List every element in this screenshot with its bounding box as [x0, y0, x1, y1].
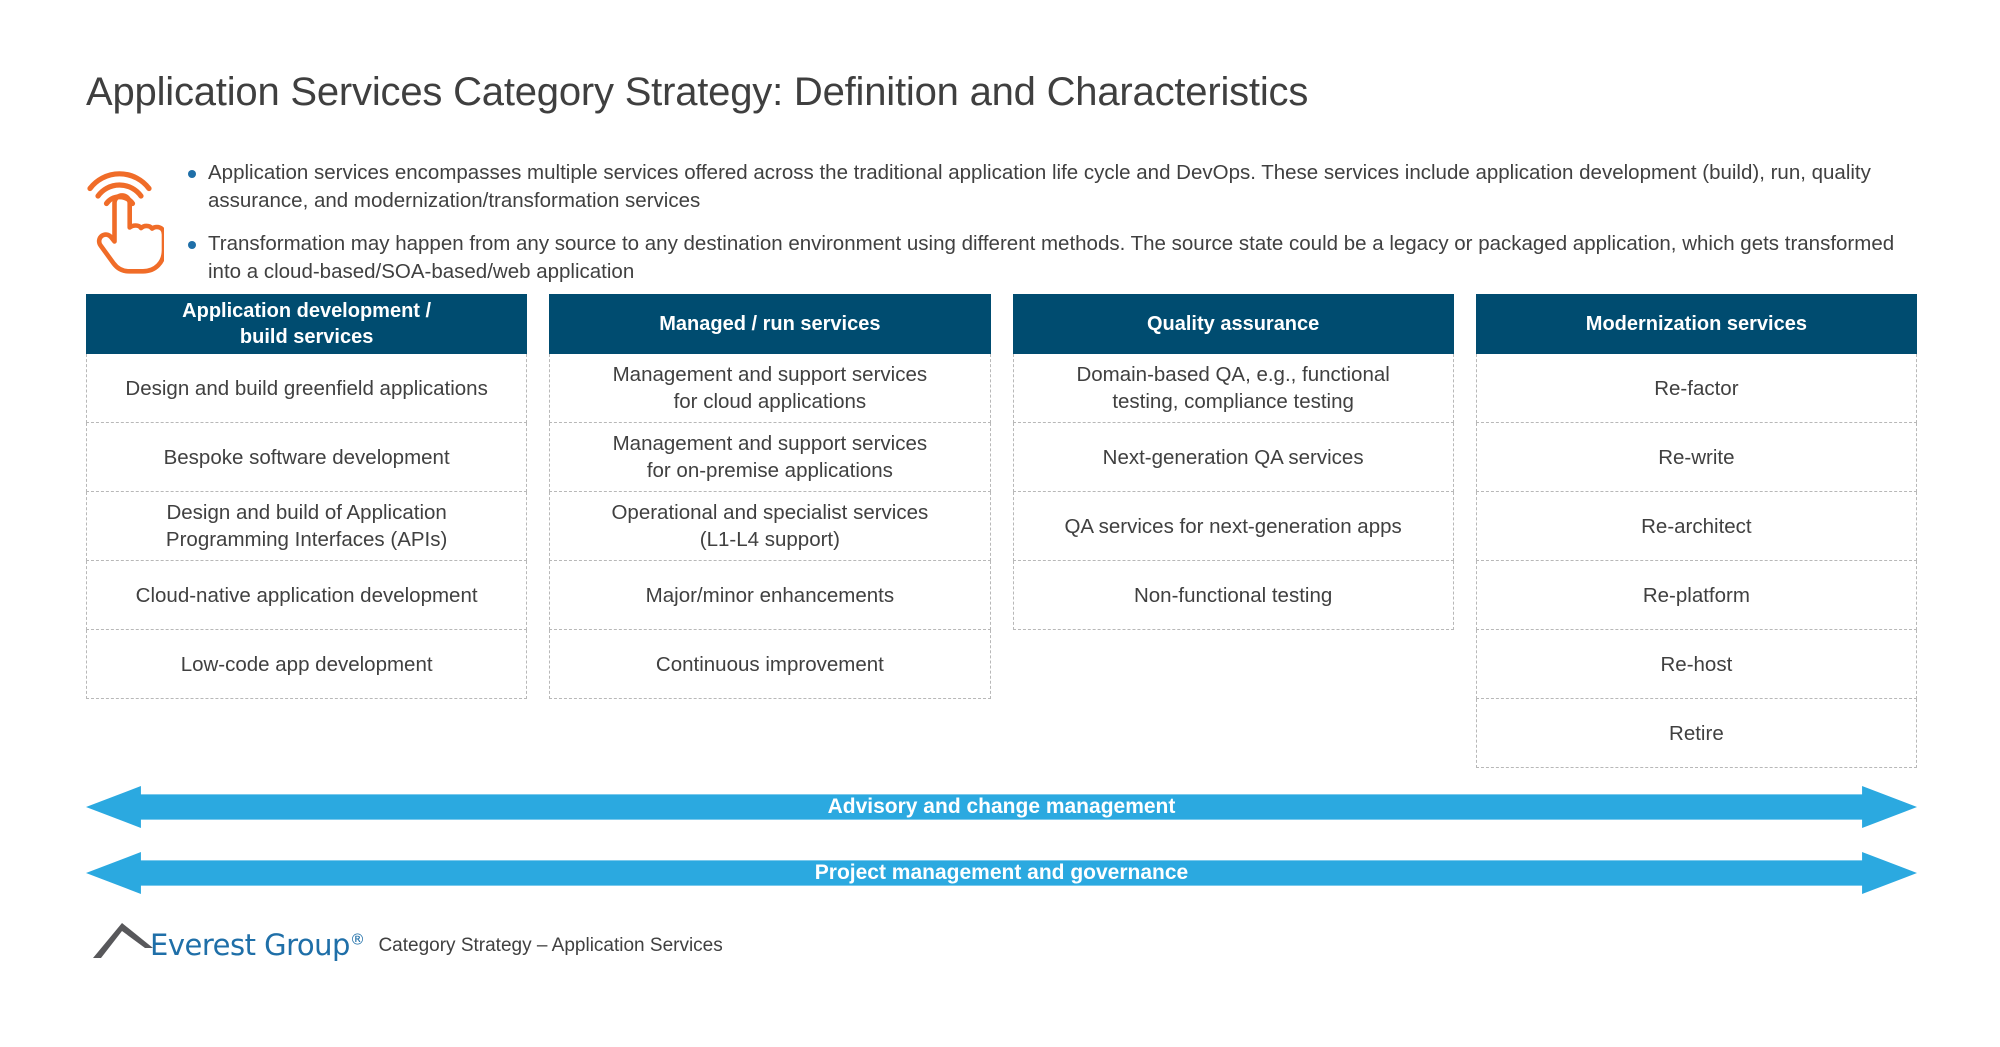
cell-line1: Re-platform: [1643, 582, 1750, 609]
column-header: Managed / run services: [549, 294, 990, 354]
cell-line1: Design and build of Application: [166, 499, 446, 526]
table-row[interactable]: Re-write: [1476, 423, 1917, 492]
column-modernization-services: Modernization services Re-factor Re-writ…: [1476, 294, 1917, 768]
registered-mark: ®: [350, 930, 365, 948]
bullet-text: Transformation may happen from any sourc…: [208, 232, 1894, 283]
bullet-text: Application services encompasses multipl…: [208, 161, 1871, 212]
category-columns: Application development / build services…: [86, 294, 1917, 768]
table-row[interactable]: Major/minor enhancements: [549, 561, 990, 630]
cell-line1: Next-generation QA services: [1103, 444, 1364, 471]
cell-line1: Non-functional testing: [1134, 582, 1332, 609]
cell-line1: Continuous improvement: [656, 651, 884, 678]
cell-line1: Re-factor: [1654, 375, 1738, 402]
cell-line1: Retire: [1669, 720, 1724, 747]
touch-gesture-icon: [86, 159, 164, 277]
column-header: Application development / build services: [86, 294, 527, 354]
column-header: Quality assurance: [1013, 294, 1454, 354]
footer-note: Category Strategy – Application Services: [378, 935, 722, 960]
cell-line2: for cloud applications: [674, 388, 867, 415]
footer: Everest Group® Category Strategy – Appli…: [92, 920, 723, 960]
table-row[interactable]: Management and support services for clou…: [549, 354, 990, 423]
table-row[interactable]: Non-functional testing: [1013, 561, 1454, 630]
column-quality-assurance: Quality assurance Domain-based QA, e.g.,…: [1013, 294, 1454, 768]
column-header: Modernization services: [1476, 294, 1917, 354]
table-row[interactable]: QA services for next-generation apps: [1013, 492, 1454, 561]
column-header-line1: Modernization services: [1586, 311, 1807, 337]
column-header-line2: build services: [240, 324, 373, 350]
everest-group-logo: Everest Group®: [92, 920, 364, 960]
cell-line2: Programming Interfaces (APIs): [166, 526, 447, 553]
intro-bullet-list: Application services encompasses multipl…: [186, 155, 1916, 286]
table-row[interactable]: Design and build of Application Programm…: [86, 492, 527, 561]
table-row[interactable]: Retire: [1476, 699, 1917, 768]
table-row[interactable]: Low-code app development: [86, 630, 527, 699]
cell-line1: Re-architect: [1641, 513, 1752, 540]
cell-line1: Cloud-native application development: [136, 582, 478, 609]
table-row[interactable]: Continuous improvement: [549, 630, 990, 699]
table-row[interactable]: Bespoke software development: [86, 423, 527, 492]
cell-line2: (L1-L4 support): [700, 526, 840, 553]
table-row[interactable]: Next-generation QA services: [1013, 423, 1454, 492]
column-managed-run-services: Managed / run services Management and su…: [549, 294, 990, 768]
table-row[interactable]: Re-platform: [1476, 561, 1917, 630]
slide-root: Application Services Category Strategy: …: [0, 0, 2000, 1047]
bullet-dot-icon: [188, 241, 196, 249]
table-row[interactable]: Design and build greenfield applications: [86, 354, 527, 423]
table-row[interactable]: Domain-based QA, e.g., functional testin…: [1013, 354, 1454, 423]
intro-section: Application services encompasses multipl…: [86, 155, 1916, 286]
banner-advisory-change-management: Advisory and change management: [86, 786, 1917, 828]
column-application-development: Application development / build services…: [86, 294, 527, 768]
cell-line1: Re-host: [1660, 651, 1732, 678]
cell-line1: Major/minor enhancements: [646, 582, 894, 609]
table-row[interactable]: Cloud-native application development: [86, 561, 527, 630]
banner-project-management-governance: Project management and governance: [86, 852, 1917, 894]
cell-line1: QA services for next-generation apps: [1064, 513, 1401, 540]
table-row[interactable]: Re-host: [1476, 630, 1917, 699]
column-header-line1: Managed / run services: [659, 311, 880, 337]
logo-text: Everest Group®: [150, 930, 364, 960]
cell-line1: Re-write: [1658, 444, 1734, 471]
cell-line1: Management and support services: [613, 361, 928, 388]
list-item: Transformation may happen from any sourc…: [186, 230, 1916, 286]
table-row[interactable]: Operational and specialist services (L1-…: [549, 492, 990, 561]
cell-line1: Low-code app development: [181, 651, 433, 678]
mountain-peak-icon: [92, 920, 154, 960]
column-header-line1: Quality assurance: [1147, 311, 1319, 337]
cell-line2: for on-premise applications: [647, 457, 893, 484]
banner-label: Project management and governance: [86, 852, 1917, 894]
cell-line1: Domain-based QA, e.g., functional: [1076, 361, 1389, 388]
logo-name: Everest Group: [150, 928, 350, 962]
cell-line1: Design and build greenfield applications: [125, 375, 487, 402]
cell-line1: Bespoke software development: [164, 444, 450, 471]
column-header-line1: Application development /: [182, 298, 431, 324]
banner-label: Advisory and change management: [86, 786, 1917, 828]
cell-line1: Management and support services: [613, 430, 928, 457]
cell-line1: Operational and specialist services: [611, 499, 928, 526]
table-row[interactable]: Re-architect: [1476, 492, 1917, 561]
cell-line2: testing, compliance testing: [1112, 388, 1354, 415]
bullet-dot-icon: [188, 170, 196, 178]
table-row[interactable]: Management and support services for on-p…: [549, 423, 990, 492]
list-item: Application services encompasses multipl…: [186, 159, 1916, 215]
table-row[interactable]: Re-factor: [1476, 354, 1917, 423]
page-title: Application Services Category Strategy: …: [86, 70, 1308, 115]
